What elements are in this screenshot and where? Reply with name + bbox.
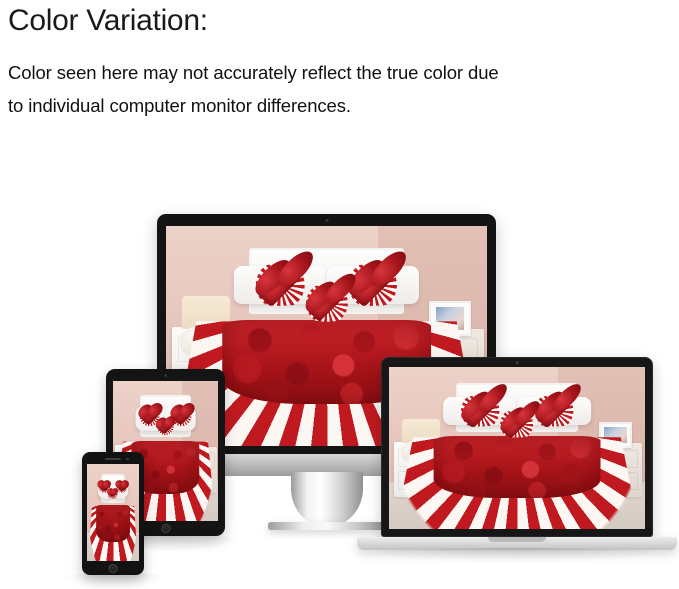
monitor-stand-neck (291, 472, 363, 526)
home-button-icon[interactable] (161, 524, 170, 533)
webcam-icon (164, 374, 167, 377)
bedding-artwork (87, 464, 139, 561)
laptop-reflection (350, 548, 679, 564)
heart-medallion-center (153, 416, 178, 437)
monitor-stand-foot (268, 522, 386, 530)
earpiece-speaker-icon (105, 458, 121, 460)
webcam-icon (325, 219, 328, 222)
phone-screen (87, 464, 139, 561)
bedding-set (88, 477, 138, 561)
home-button-icon[interactable] (109, 564, 118, 573)
page-root: Color Variation: Color seen here may not… (0, 0, 679, 589)
webcam-icon (516, 361, 519, 364)
bedding-artwork (389, 367, 645, 529)
front-camera-icon (126, 458, 129, 461)
heart-medallion-center (290, 285, 364, 321)
laptop-screen (389, 367, 645, 529)
rose-duvet-center (433, 436, 600, 498)
trackpad-notch (488, 537, 546, 542)
laptop-base (357, 537, 677, 550)
device-smartphone (82, 452, 144, 575)
bedding-set (394, 388, 640, 529)
rose-duvet-center (96, 505, 130, 542)
heart-medallion-center (107, 488, 120, 502)
device-showcase (0, 0, 679, 589)
heart-medallion-center (488, 411, 547, 438)
device-laptop (381, 357, 653, 537)
